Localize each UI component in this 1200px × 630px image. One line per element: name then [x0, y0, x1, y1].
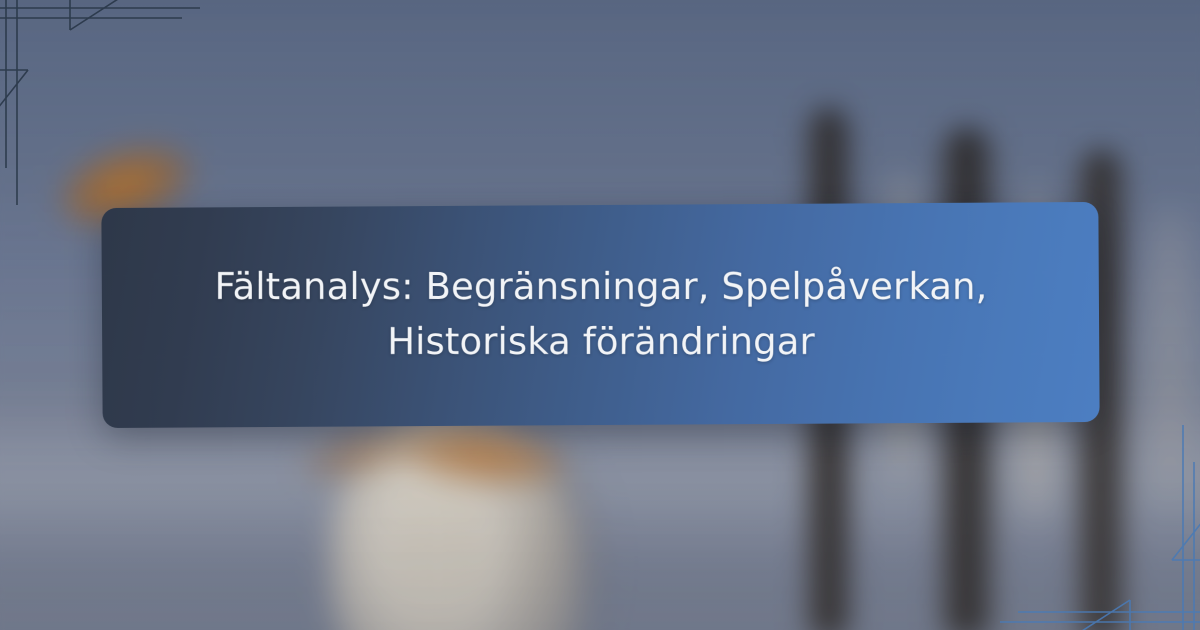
title-card-canvas: Fältanalys: Begränsningar, Spelpåverkan,…	[0, 0, 1200, 630]
page-title: Fältanalys: Begränsningar, Spelpåverkan,…	[161, 260, 1041, 370]
title-card: Fältanalys: Begränsningar, Spelpåverkan,…	[101, 202, 1099, 428]
